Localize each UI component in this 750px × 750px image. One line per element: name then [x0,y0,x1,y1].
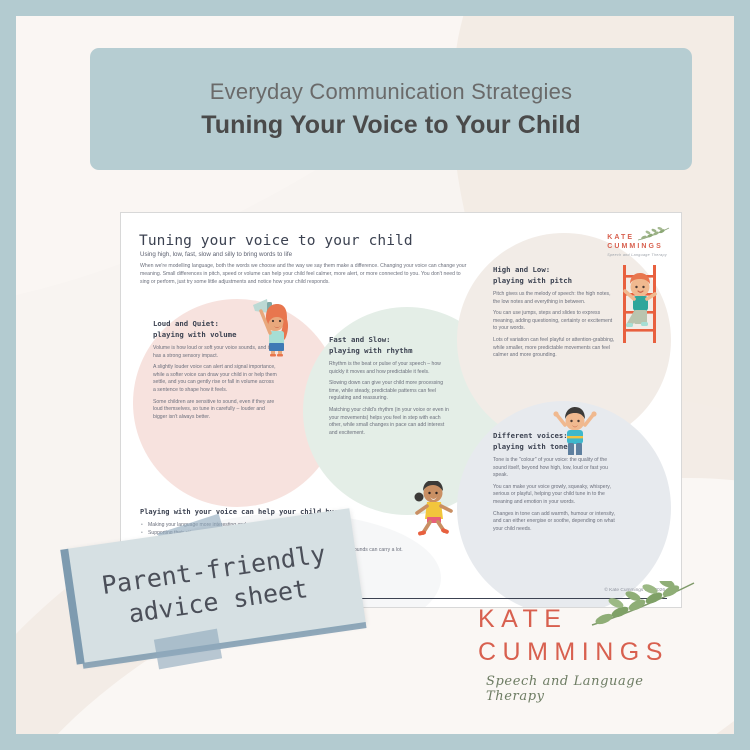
section-fast-and-slow: Fast and Slow: playing with rhythm Rhyth… [329,335,453,442]
sheet-logo-tagline: Speech and Language Therapy [607,253,667,258]
olive-sprig-icon [590,581,696,631]
section-different-voices: Different voices: playing with tone Tone… [493,431,619,538]
section-paragraph: Slowing down can give your child more pr… [329,380,453,403]
title-banner: Everyday Communication Strategies Tuning… [90,48,692,170]
section-paragraph: Volume is how loud or soft your voice so… [153,345,277,360]
section-paragraph: Matching your child's rhythm (in your vo… [329,407,453,438]
banner-eyebrow: Everyday Communication Strategies [210,79,572,105]
section-paragraph: A slightly louder voice can alert and si… [153,364,277,395]
section-paragraph: Some children are sensitive to sound, ev… [153,399,277,422]
section-heading: High and Low: playing with pitch [493,265,615,287]
section-paragraph: You can make your voice growly, squeaky,… [493,484,619,507]
sheet-subtitle: Using high, low, fast, slow and silly to… [140,251,292,260]
section-high-and-low: High and Low: playing with pitch Pitch g… [493,265,615,364]
brand-tagline: Speech and Language Therapy [486,674,698,704]
section-heading: Fast and Slow: playing with rhythm [329,335,453,357]
sheet-title: Tuning your voice to your child [139,231,413,252]
section-paragraph: Changes in tone can add warmth, humour o… [493,511,619,534]
boy-on-ladder-illustration [617,265,665,343]
heading-line-2: playing with volume [153,330,236,339]
brand-line-2: CUMMINGS [478,636,698,670]
section-heading: Different voices: playing with tone [493,431,619,453]
section-loud-and-quiet: Loud and Quiet: playing with volume Volu… [153,319,277,426]
heading-line-1: Different voices: [493,431,568,440]
heading-line-1: Loud and Quiet: [153,319,219,328]
sheet-logo-line2: CUMMINGS [607,242,667,251]
section-paragraph: Lots of variation can feel playful or at… [493,337,615,360]
banner-headline: Tuning Your Voice to Your Child [201,111,580,140]
olive-sprig-icon [637,227,671,243]
sticker-edge-left [60,549,84,665]
heading-line-2: playing with tone [493,442,568,451]
sticker-text: Parent-friendly advice sheet [100,538,333,635]
sheet-intro-paragraph: When we're modelling language, both the … [140,263,470,286]
section-paragraph: You can use jumps, steps and slides to e… [493,310,615,333]
section-paragraph: Tone is the "colour" of your voice: the … [493,457,619,480]
heading-line-2: playing with pitch [493,276,572,285]
section-paragraph: Pitch gives us the melody of speech: the… [493,291,615,306]
sheet-logo: KATE CUMMINGS Speech and Language Therap… [607,233,667,258]
heading-line-1: Fast and Slow: [329,335,391,344]
section-heading: Loud and Quiet: playing with volume [153,319,277,341]
poster-frame: Everyday Communication Strategies Tuning… [0,0,750,750]
heading-line-2: playing with rhythm [329,346,412,355]
heading-line-1: High and Low: [493,265,550,274]
brand-logo: KATE CUMMINGS Speech and Language Therap… [478,603,698,705]
section-paragraph: Rhythm is the beat or pulse of your spee… [329,361,453,376]
poster-canvas: Everyday Communication Strategies Tuning… [16,16,734,734]
